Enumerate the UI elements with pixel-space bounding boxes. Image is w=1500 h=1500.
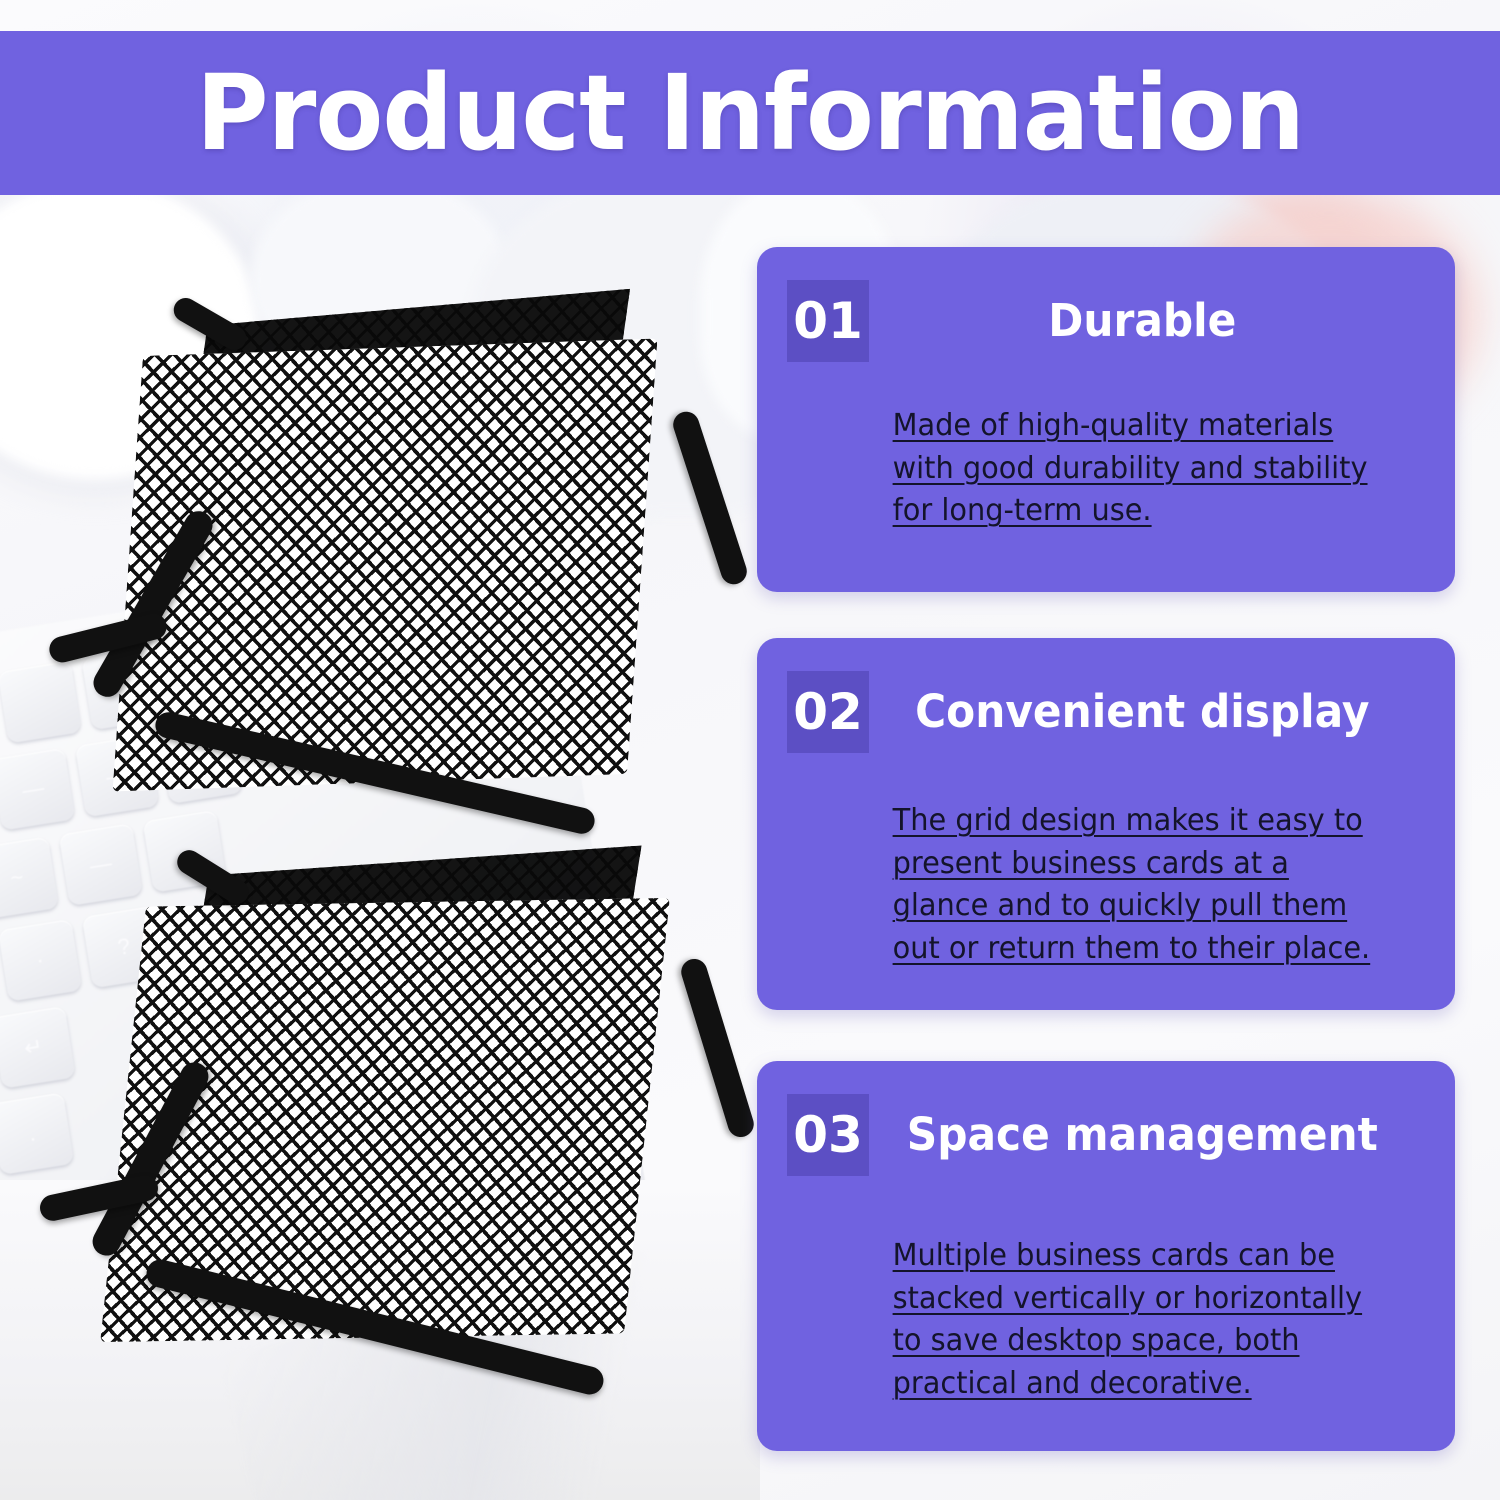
holder-rail bbox=[678, 956, 757, 1141]
feature-card-list: 01 Durable Made of high-quality material… bbox=[757, 247, 1457, 1451]
feature-title: Convenient display bbox=[886, 688, 1409, 735]
header-band: Product Information bbox=[0, 31, 1500, 195]
feature-card[interactable]: 01 Durable Made of high-quality material… bbox=[757, 247, 1455, 592]
mesh-card-holder-top bbox=[30, 290, 720, 850]
feature-description: Multiple business cards can be stacked v… bbox=[787, 1235, 1399, 1405]
feature-card[interactable]: 02 Convenient display The grid design ma… bbox=[757, 638, 1455, 1010]
mesh-card-holder-bottom bbox=[25, 845, 735, 1405]
feature-number-badge: 02 bbox=[787, 671, 869, 753]
feature-card-header: 02 Convenient display bbox=[787, 670, 1425, 754]
feature-title: Durable bbox=[886, 297, 1409, 344]
feature-card[interactable]: 03 Space management Multiple business ca… bbox=[757, 1061, 1455, 1451]
feature-number-badge: 03 bbox=[787, 1094, 869, 1176]
feature-card-header: 01 Durable bbox=[787, 279, 1425, 363]
page-title: Product Information bbox=[196, 61, 1304, 165]
feature-description: The grid design makes it easy to present… bbox=[787, 800, 1399, 970]
feature-number-badge: 01 bbox=[787, 280, 869, 362]
feature-description: Made of high-quality materials with good… bbox=[787, 405, 1399, 533]
feature-title: Space management bbox=[886, 1111, 1409, 1158]
feature-card-header: 03 Space management bbox=[787, 1093, 1425, 1177]
